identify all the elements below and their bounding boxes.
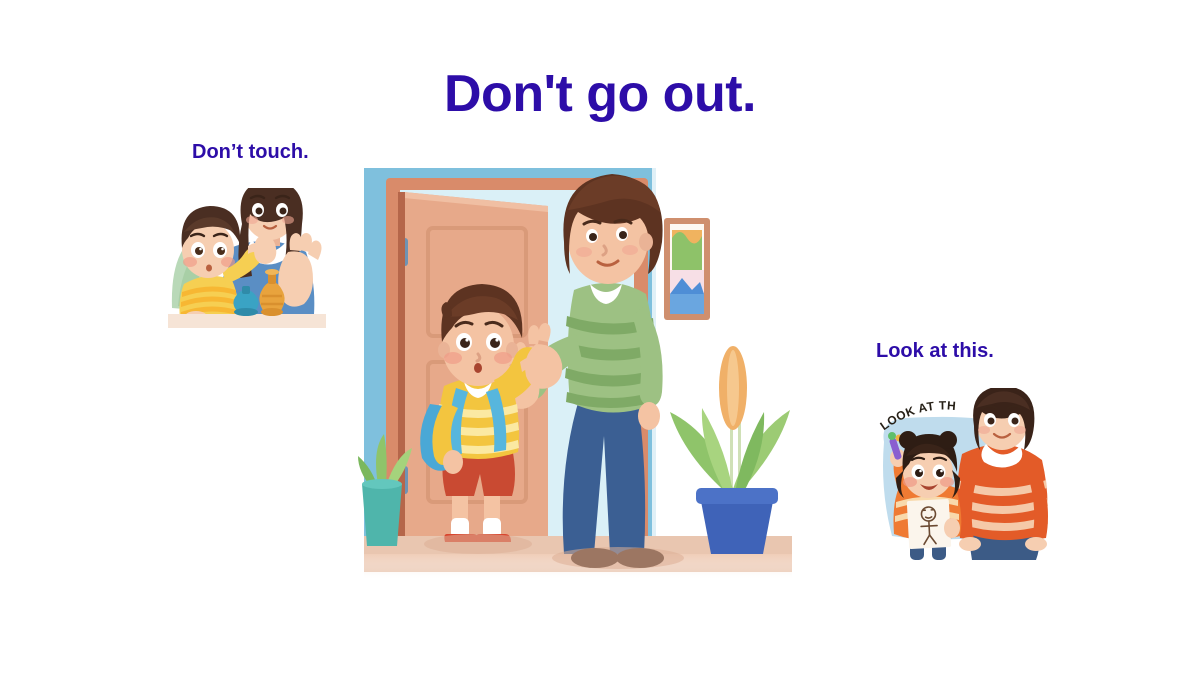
illustration-dont-touch bbox=[168, 188, 326, 328]
childs-drawing bbox=[907, 499, 951, 549]
illustration-mother-stopping-boy-at-door bbox=[352, 166, 792, 586]
illustration-look-at-this: LOOK AT THIS! bbox=[866, 388, 1062, 568]
caption-look-at-this: Look at this. bbox=[876, 340, 994, 363]
page-title: Don't go out. bbox=[0, 66, 1200, 123]
wall-picture-frame bbox=[664, 218, 710, 320]
caption-dont-touch: Don’t touch. bbox=[192, 141, 309, 164]
slide-canvas: Don't go out. Don’t touch. Look at this. bbox=[0, 0, 1200, 675]
